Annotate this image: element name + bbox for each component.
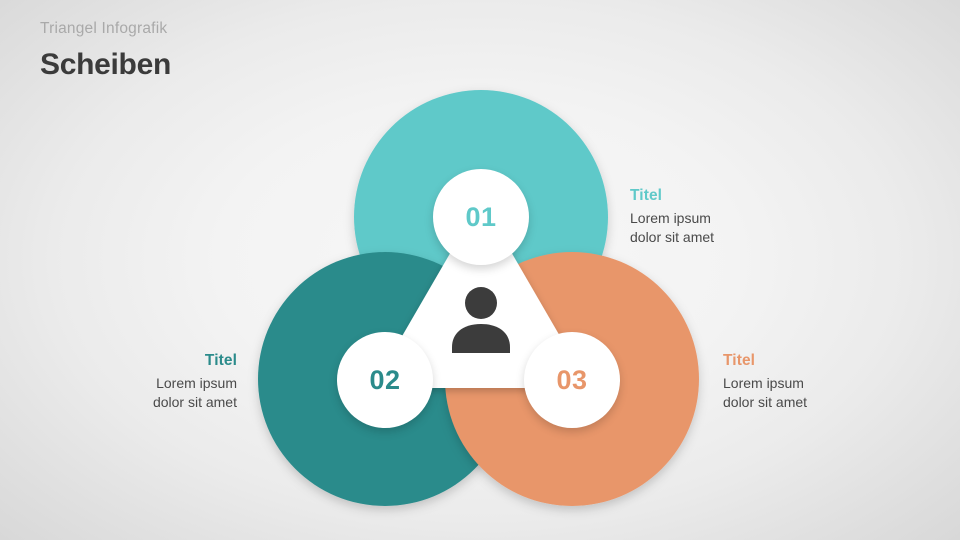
callout-03[interactable]: Titel Lorem ipsum dolor sit amet [723, 351, 807, 411]
callout-title-03: Titel [723, 351, 807, 371]
callout-body-03: Lorem ipsum dolor sit amet [723, 374, 807, 411]
node-number-03: 03 [556, 367, 587, 394]
slide-canvas: Triangel Infografik Scheiben [0, 0, 960, 540]
node-bubble-03[interactable]: 03 [524, 332, 620, 428]
node-number-01: 01 [465, 204, 496, 231]
callout-body-02: Lorem ipsum dolor sit amet [153, 374, 237, 411]
callout-title-02: Titel [153, 351, 237, 371]
diagram-svg [0, 0, 960, 540]
node-bubble-02[interactable]: 02 [337, 332, 433, 428]
callout-body-01: Lorem ipsum dolor sit amet [630, 209, 714, 246]
triangle-disc-diagram: 01 02 03 [0, 0, 960, 540]
callout-title-01: Titel [630, 186, 714, 206]
callout-01[interactable]: Titel Lorem ipsum dolor sit amet [630, 186, 714, 246]
node-number-02: 02 [369, 367, 400, 394]
node-bubble-01[interactable]: 01 [433, 169, 529, 265]
callout-02[interactable]: Titel Lorem ipsum dolor sit amet [153, 351, 237, 411]
